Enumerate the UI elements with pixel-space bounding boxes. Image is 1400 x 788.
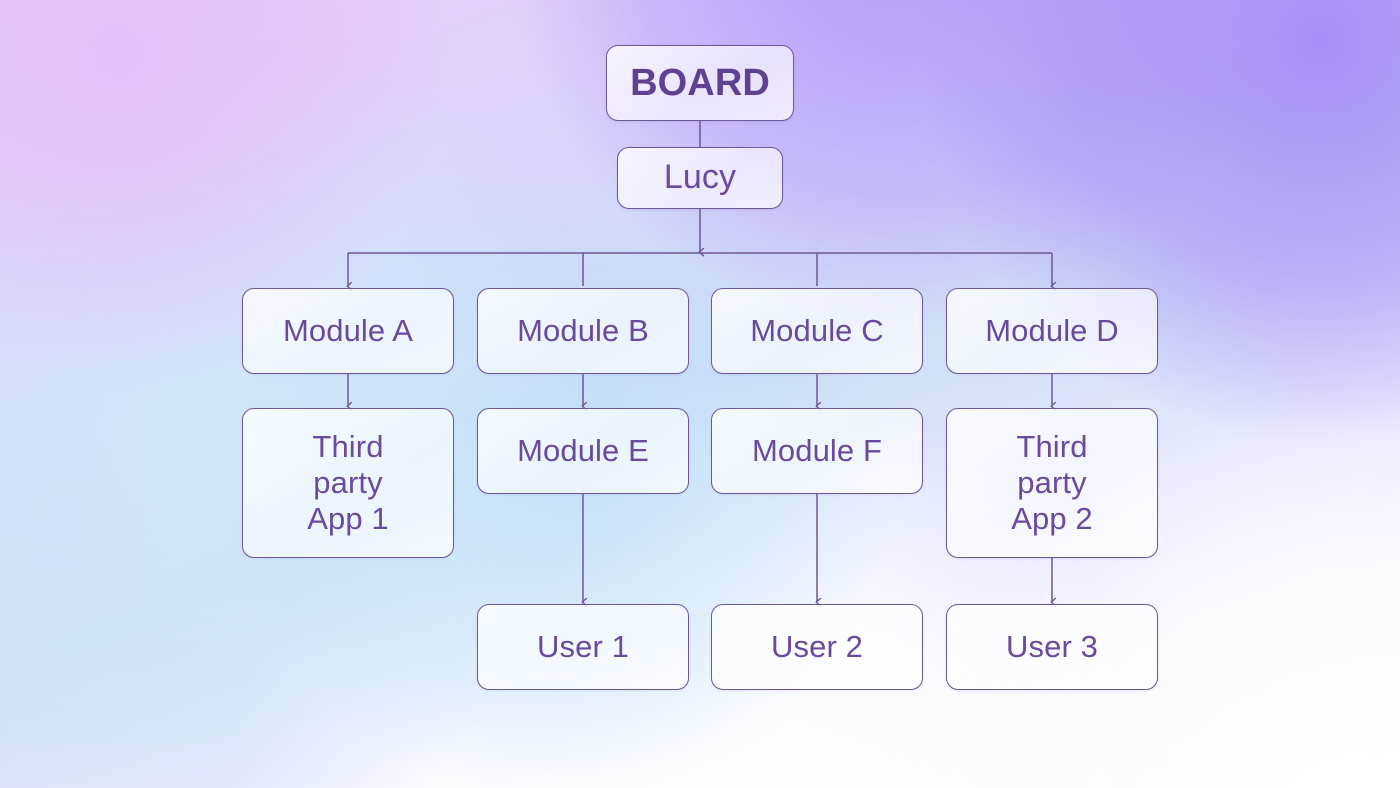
app-2-line-2: party [1017,465,1086,500]
node-user-3[interactable]: User 3 [946,604,1158,690]
node-module-e-label: Module E [517,433,649,469]
node-third-party-app-1[interactable]: Third party App 1 [242,408,454,558]
org-chart-canvas: BOARD Lucy Module A Module B Module C Mo… [0,0,1400,788]
node-user-1[interactable]: User 1 [477,604,689,690]
node-user-2-label: User 2 [771,629,863,665]
node-module-f-label: Module F [752,433,882,469]
node-board[interactable]: BOARD [606,45,794,121]
app-1-line-2: party [313,465,382,500]
app-1-line-3: App 1 [307,501,389,536]
node-third-party-app-2[interactable]: Third party App 2 [946,408,1158,558]
node-third-party-app-2-label: Third party App 2 [1011,429,1093,537]
node-lucy[interactable]: Lucy [617,147,783,209]
app-1-line-1: Third [312,429,383,464]
node-module-b[interactable]: Module B [477,288,689,374]
node-third-party-app-1-label: Third party App 1 [307,429,389,537]
node-module-e[interactable]: Module E [477,408,689,494]
node-module-d-label: Module D [985,313,1118,349]
node-user-1-label: User 1 [537,629,629,665]
app-2-line-3: App 2 [1011,501,1093,536]
node-module-b-label: Module B [517,313,649,349]
node-user-2[interactable]: User 2 [711,604,923,690]
node-module-a-label: Module A [283,313,413,349]
node-module-c-label: Module C [750,313,883,349]
node-module-d[interactable]: Module D [946,288,1158,374]
node-lucy-label: Lucy [664,158,736,197]
node-module-a[interactable]: Module A [242,288,454,374]
node-board-label: BOARD [630,61,770,105]
node-module-f[interactable]: Module F [711,408,923,494]
node-user-3-label: User 3 [1006,629,1098,665]
node-module-c[interactable]: Module C [711,288,923,374]
app-2-line-1: Third [1016,429,1087,464]
